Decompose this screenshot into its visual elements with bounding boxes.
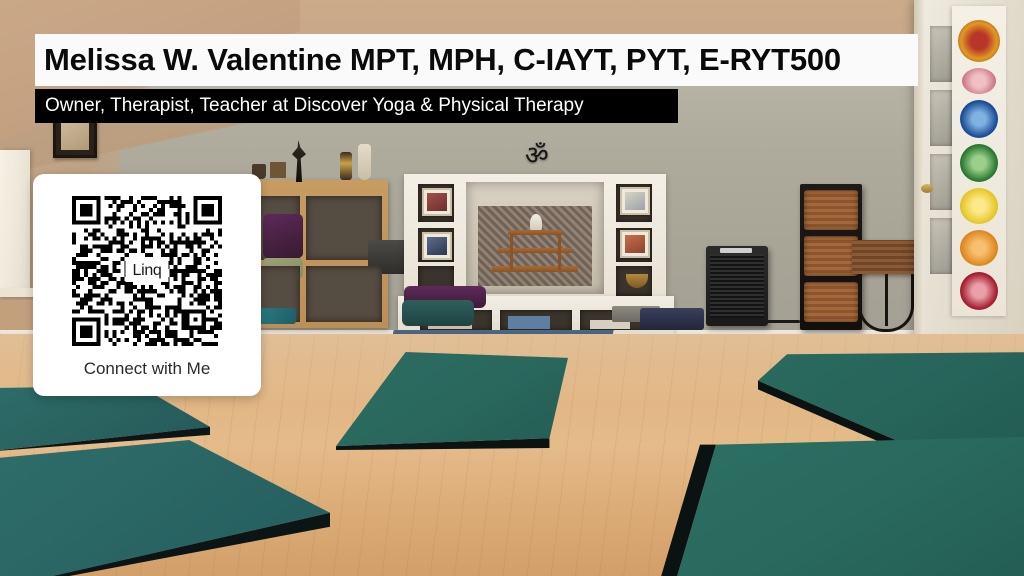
power-cord (766, 320, 800, 323)
page-title: Melissa W. Valentine MPT, MPH, C-IAYT, P… (44, 42, 841, 78)
table-legs (858, 274, 914, 332)
window (0, 150, 30, 290)
door-knob (921, 184, 933, 193)
chakra-heart (960, 144, 998, 182)
statue-decor (292, 140, 306, 182)
chakra-banner (952, 6, 1006, 316)
yoga-mat (0, 440, 330, 576)
altar-leg (558, 234, 561, 270)
folded-blanket (640, 308, 704, 330)
qr-code[interactable]: Linq (72, 196, 222, 346)
jar-decor (340, 152, 352, 180)
door-glass-pane (930, 26, 952, 82)
wicker-basket (804, 190, 858, 230)
qr-connect-card[interactable]: Linq Connect with Me (33, 174, 261, 396)
role-subtitle-bar: Owner, Therapist, Teacher at Discover Yo… (35, 89, 678, 123)
framed-photo (422, 232, 452, 260)
vase-decor (358, 144, 371, 180)
box-decor (270, 162, 286, 178)
shelf-cell (306, 266, 382, 322)
door-glass-pane (930, 218, 952, 274)
framed-photo (620, 187, 650, 215)
air-purifier (706, 246, 768, 326)
framed-photo (422, 188, 452, 216)
chakra-crown (958, 20, 1000, 62)
yoga-mat (660, 436, 1024, 576)
qr-caption: Connect with Me (84, 359, 211, 379)
purifier-label (720, 248, 752, 253)
wooden-shelf-unit (248, 180, 388, 328)
screenshot-stage: ॐ (0, 0, 1024, 576)
chakra-solar-plexus (960, 188, 998, 224)
door-glass-pane (930, 154, 952, 210)
shelf-cell (306, 196, 382, 260)
chakra-throat (960, 100, 998, 138)
altar-tier (492, 266, 578, 272)
framed-photo (620, 230, 650, 258)
chakra-sacral (960, 230, 998, 266)
teal-floor-bolster (402, 300, 474, 326)
chakra-root (960, 272, 998, 310)
linq-logo: Linq (125, 260, 168, 282)
yoga-mat (336, 352, 568, 450)
door-glass-pane (930, 90, 952, 146)
mat-surface (660, 436, 1024, 576)
altar-leg (510, 234, 513, 270)
chakra-third-eye (962, 68, 996, 94)
wicker-basket (804, 282, 858, 322)
shelf-top-decor (250, 140, 390, 182)
altar-table (492, 230, 578, 278)
altar-tier (508, 230, 562, 235)
firebox (466, 182, 604, 294)
mat-surface (336, 352, 568, 450)
page-subtitle: Owner, Therapist, Teacher at Discover Yo… (45, 95, 584, 117)
wooden-chest (852, 240, 920, 274)
wicker-basket (804, 236, 858, 276)
om-symbol: ॐ (525, 143, 549, 169)
folded-towel (508, 316, 550, 329)
name-title-bar: Melissa W. Valentine MPT, MPH, C-IAYT, P… (35, 34, 918, 86)
iron-side-table (852, 240, 920, 332)
purple-bolster (263, 214, 303, 258)
